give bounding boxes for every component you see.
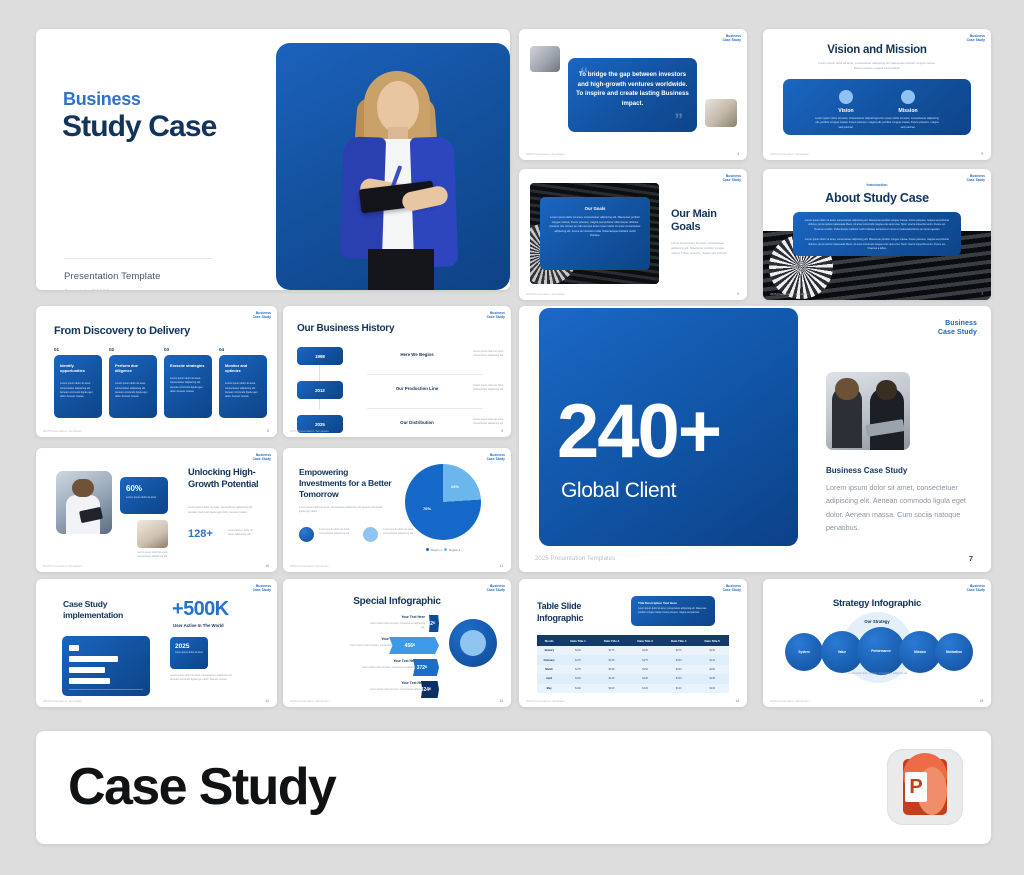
stat-card: 240+ Global Client: [539, 308, 798, 546]
slide-vision-mission[interactable]: Business Case Study Vision and Mission L…: [763, 29, 991, 160]
quote-photo-top: [530, 46, 560, 72]
strategy-title: Strategy Infographic: [763, 598, 991, 609]
table-note-card: Title Description Text Here Lorem ipsum …: [631, 596, 715, 626]
legend-label-region-2: Region 2: [449, 548, 460, 552]
slide-footer: 2025 Presentation Templates: [526, 699, 565, 703]
stat-body: Lorem ipsum dolor sit amet, consectetuer…: [826, 481, 976, 534]
slide-global-client-stat[interactable]: Business Case Study 240+ Global Client B…: [519, 306, 991, 572]
vision-subtitle: Lorem ipsum dolor sit amet, consectetuer…: [815, 61, 939, 70]
badge-year: 2025: [175, 643, 203, 650]
strategy-description: Lorem ipsum dolor sit amet, consectetuer…: [847, 672, 909, 676]
table-cell: May: [537, 684, 561, 693]
vision-icon: [839, 90, 853, 104]
feature-text-1: Lorem ipsum dolor sit amet, consectetuer…: [319, 528, 357, 537]
unlocking-title: Unlocking High-Growth Potential: [188, 467, 277, 490]
goals-description: Lorem ipsum dolor sit amet, consectetuer…: [671, 241, 733, 256]
slide-footer: 2025 Presentation Templates: [535, 556, 615, 562]
stat-heading: Business Case Study: [826, 466, 907, 475]
feature-icon-2: [363, 527, 378, 542]
slide-footer: 2025 Presentation Templates: [290, 429, 329, 433]
pie-legend: Region 1 Region 2: [405, 548, 481, 552]
table-cell: $198: [595, 665, 629, 674]
table-row: March $175 $198 $150 $150 $150: [537, 665, 729, 674]
goals-card-body: Lorem ipsum dolor sit amet, consectetuer…: [540, 216, 650, 239]
page-number: 8: [267, 429, 269, 433]
goals-card-heading: Our Goals: [540, 206, 650, 211]
badge-value: 60%: [126, 484, 162, 493]
history-label: Here We Begins: [367, 352, 467, 357]
note-heading: Title Description Text Here: [638, 601, 708, 605]
table-header-cell: Data Title 1: [561, 635, 595, 646]
table-cell: $170: [561, 655, 595, 664]
step-card: Execute strategies Lorem ipsum dolor sit…: [164, 355, 212, 418]
cover-title: Study Case: [62, 110, 216, 144]
vision-mission-card: Vision Lorem ipsum dolor sit amet, conse…: [783, 79, 971, 135]
data-table: Month Data Title 1 Data Title 2 Data Tit…: [537, 635, 729, 693]
powerpoint-icon[interactable]: P: [887, 749, 963, 825]
slide-business-history[interactable]: Business Case Study Our Business History…: [283, 306, 511, 437]
special-value: 132ᴷ: [429, 615, 439, 632]
page-number: 12: [265, 699, 269, 703]
page-number: 6: [737, 292, 739, 296]
slide-discovery-to-delivery[interactable]: Business Case Study From Discovery to De…: [36, 306, 277, 437]
table-header-cell: Month: [537, 635, 561, 646]
mission-column: Mission Lorem ipsum dolor sit amet, cons…: [869, 90, 947, 130]
percentage-badge: 60% Lorem ipsum dolor sit amet: [120, 477, 168, 514]
table-cell: $130: [628, 684, 662, 693]
step-card: Monitor and optimize Lorem ipsum dolor s…: [219, 355, 267, 418]
quote-card: “ ” To bridge the gap between investors …: [568, 58, 697, 132]
history-row: 2025 Our Distribution Lorem ipsum dolor …: [297, 412, 497, 437]
step-number: 03: [164, 347, 169, 352]
brand-logo: Business Case Study: [723, 174, 741, 182]
table-cell: $190: [595, 684, 629, 693]
table-cell: $120: [662, 684, 696, 693]
step-body: Lorem ipsum dolor sit amet, consectetuer…: [225, 382, 261, 400]
strategy-center-label: Our Strategy: [763, 619, 991, 624]
slide-footer: 2025 Presentation Templates: [770, 292, 809, 296]
slide-footer: 2025 Presentation Templates: [290, 564, 329, 568]
implementation-bar-chart: [62, 636, 150, 696]
table-cell: $138: [695, 674, 729, 683]
about-text-card: Lorem ipsum dolor sit amet, consectetuer…: [793, 212, 961, 256]
table-row: January $240 $175 $130 $275 $140: [537, 646, 729, 655]
table-cell: January: [537, 646, 561, 655]
goals-title: Our Main Goals: [671, 208, 747, 234]
mission-icon: [901, 90, 915, 104]
meeting-photo: [826, 372, 910, 450]
special-value: 324ᴷ: [421, 681, 439, 698]
history-desc: Lorem ipsum dolor sit amet, consectetuer…: [473, 384, 511, 393]
table-slide-title: Table Slide Infographic: [537, 601, 609, 624]
unlocking-stat-caption: Lorem ipsum dolor sit amet, adipiscing e…: [228, 529, 258, 538]
special-value: 372ᴷ: [413, 659, 439, 676]
page-number: 7: [969, 554, 973, 563]
about-paragraph-2: Lorem ipsum dolor sit amet, consectetuer…: [804, 238, 950, 251]
step-card: Identify opportunities Lorem ipsum dolor…: [54, 355, 102, 418]
brand-logo: Business Case Study: [723, 34, 741, 42]
brand-logo: Business Case Study: [967, 34, 985, 42]
slide-strategy-infographic[interactable]: Business Case Study Strategy Infographic…: [763, 579, 991, 707]
table-cell: February: [537, 655, 561, 664]
brand-logo: Business Case Study: [253, 584, 271, 592]
slide-cover[interactable]: Business Study Case Presentation Templat…: [36, 29, 510, 290]
step-number: 04: [219, 347, 224, 352]
page-number: 10: [265, 564, 269, 568]
step-body: Lorem ipsum dolor sit amet, consectetuer…: [170, 377, 206, 395]
implementation-big-number: +500K: [172, 598, 229, 621]
slide-deck-preview: Business Study Case Presentation Templat…: [0, 0, 1024, 875]
slide-table-infographic[interactable]: Business Case Study Table Slide Infograp…: [519, 579, 747, 707]
brand-logo: Business Case Study: [487, 453, 505, 461]
table-cell: $144: [695, 655, 729, 664]
slide-footer: 2025 Presentation Templates: [526, 292, 565, 296]
slide-footer: 2025 Presentation Templates: [770, 152, 809, 156]
table-row: February $170 $135 $175 $160 $144: [537, 655, 729, 664]
table-header-cell: Data Title 4: [662, 635, 696, 646]
table-cell: $175: [628, 655, 662, 664]
step-card: Perform due diligence Lorem ipsum dolor …: [109, 355, 157, 418]
pie-slide-title: Empowering Investments for a Better Tomo…: [299, 467, 394, 501]
page-number: 5: [981, 152, 983, 156]
pie-slide-description: Lorem ipsum dolor sit amet, consectetuer…: [299, 506, 383, 515]
history-year: 1998: [297, 347, 343, 365]
special-body: Lorem ipsum dolor sit amet, consectetuer…: [369, 622, 425, 630]
step-body: Lorem ipsum dolor sit amet, consectetuer…: [60, 382, 96, 400]
slide-quote[interactable]: Business Case Study “ ” To bridge the ga…: [519, 29, 747, 160]
table-cell: $140: [695, 684, 729, 693]
pie-slice-label-24: 24%: [451, 484, 459, 489]
vision-title: Vision and Mission: [763, 44, 991, 56]
table-cell: $150: [662, 665, 696, 674]
special-body: Lorem ipsum dolor sit amet, consectetuer…: [369, 688, 425, 696]
implementation-title: Case Study implementation: [63, 599, 149, 621]
quote-photo-bottom: [705, 99, 737, 127]
special-value: 456ᴷ: [389, 637, 439, 654]
table-cell: April: [537, 674, 561, 683]
table-cell: $130: [628, 646, 662, 655]
legend-label-region-1: Region 1: [431, 548, 442, 552]
implementation-big-caption: User Active In The World: [173, 623, 224, 628]
history-label: Our Production Line: [367, 386, 467, 391]
history-row: 2012 Our Production Line Lorem ipsum dol…: [297, 378, 497, 412]
mission-heading: Mission: [869, 108, 947, 114]
special-row: Your Text Here Lorem ipsum dolor sit ame…: [321, 681, 439, 703]
page-number: 4: [737, 152, 739, 156]
cover-divider: [64, 258, 212, 259]
history-desc: Lorem ipsum dolor sit amet, consectetuer…: [473, 418, 511, 427]
special-row: Your Text Here Lorem ipsum dolor sit ame…: [313, 659, 439, 681]
powerpoint-icon-letter: P: [905, 772, 927, 802]
table-header-cell: Data Title 3: [628, 635, 662, 646]
brand-logo: Business Case Study: [938, 320, 977, 338]
mission-body: Lorem ipsum dolor sit amet, consectetuer…: [869, 117, 947, 130]
table-cell: $160: [662, 655, 696, 664]
cover-subtitle: Presentation Template: [64, 271, 160, 282]
about-title: About Study Case: [763, 191, 991, 205]
brand-logo: Business Case Study: [487, 584, 505, 592]
strategy-node[interactable]: System: [785, 633, 823, 671]
page-number: 13: [499, 699, 503, 703]
slide-about-study-case[interactable]: Business Case Study Introduction About S…: [763, 169, 991, 300]
step-heading: Identify opportunities: [60, 363, 96, 373]
special-row: Your Text Here Lorem ipsum dolor sit ame…: [301, 637, 439, 659]
feature-text-2: Lorem ipsum dolor sit amet, consectetuer…: [383, 528, 421, 537]
banner-title: Case Study: [68, 757, 335, 817]
discovery-title: From Discovery to Delivery: [54, 325, 190, 337]
about-paragraph-1: Lorem ipsum dolor sit amet, consectetuer…: [804, 219, 950, 232]
slide-unlocking-potential[interactable]: Business Case Study 60% Lorem ipsum dolo…: [36, 448, 277, 572]
slide-empowering-investments[interactable]: Business Case Study Empowering Investmen…: [283, 448, 511, 572]
brand-logo: Business Case Study: [253, 311, 271, 319]
page-number: 11: [500, 564, 503, 568]
table-cell: $240: [561, 646, 595, 655]
brand-logo: Business Case Study: [253, 453, 271, 461]
step-number: 01: [54, 347, 59, 352]
slide-footer: 2025 Presentation Templates: [526, 152, 565, 156]
page-number: 9: [501, 429, 503, 433]
special-body: Lorem ipsum dolor sit amet, consectetuer…: [361, 666, 417, 674]
table-header-row: Month Data Title 1 Data Title 2 Data Tit…: [537, 635, 729, 646]
table-cell: $175: [561, 665, 595, 674]
badge-caption: Lorem ipsum dolor sit amet: [175, 652, 203, 656]
quote-text: To bridge the gap between investors and …: [576, 70, 689, 108]
goals-card: Our Goals Lorem ipsum dolor sit amet, co…: [540, 197, 650, 270]
unlocking-photo-caption: Lorem ipsum dolor sit amet, consectetuer…: [137, 551, 175, 560]
table-cell: $140: [561, 684, 595, 693]
feature-icon-1: [299, 527, 314, 542]
slide-footer: 2025 Presentation Templates: [290, 699, 329, 703]
page-number: 7: [981, 292, 983, 296]
unlocking-photo-secondary: [137, 520, 168, 548]
history-row: 1998 Here We Begins Lorem ipsum dolor si…: [297, 344, 497, 378]
slide-footer: 2025 Presentation Templates: [770, 699, 809, 703]
slide-footer: 2025 Presentation Templates: [43, 564, 82, 568]
pie-slice-label-76: 76%: [423, 506, 431, 511]
about-eyebrow: Introduction: [763, 183, 991, 187]
brand-logo: Business Case Study: [723, 584, 741, 592]
step-body: Lorem ipsum dolor sit amet, consectetuer…: [115, 382, 151, 400]
slide-footer: 2025 Presentation Templates: [43, 699, 82, 703]
slide-special-infographic[interactable]: Business Case Study Special Infographic …: [283, 579, 511, 707]
table-cell: $194: [561, 674, 595, 683]
implementation-year-badge: 2025 Lorem ipsum dolor sit amet: [170, 637, 208, 669]
table-cell: $150: [662, 674, 696, 683]
quote-close-mark: ”: [675, 111, 684, 128]
document-search-icon: [460, 630, 486, 656]
step-number: 02: [109, 347, 114, 352]
brand-logo: Business Case Study: [487, 311, 505, 319]
history-title: Our Business History: [297, 323, 394, 334]
page-number: 15: [979, 699, 983, 703]
table-cell: $150: [695, 665, 729, 674]
unlocking-photo-main: [56, 471, 112, 534]
bottom-banner: Case Study P: [36, 731, 991, 844]
cover-eyebrow: Business: [63, 89, 141, 110]
history-desc: Lorem ipsum dolor sit amet, consectetuer…: [473, 350, 511, 359]
unlocking-stat: 128+: [188, 528, 213, 540]
unlocking-description: Lorem ipsum dolor sit amet, consectetuer…: [188, 506, 254, 515]
table-header-cell: Data Title 5: [695, 635, 729, 646]
badge-caption: Lorem ipsum dolor sit amet: [126, 496, 162, 500]
brand-logo: Business Case Study: [967, 174, 985, 182]
table-cell: $140: [695, 646, 729, 655]
pie-chart: 24% 76%: [405, 464, 481, 540]
slide-our-main-goals[interactable]: Business Case Study Our Goals Lorem ipsu…: [519, 169, 747, 300]
table-row: May $140 $190 $130 $120 $140: [537, 684, 729, 693]
special-row: Your Text Here Lorem ipsum dolor sit ame…: [321, 615, 439, 637]
step-heading: Monitor and optimize: [225, 363, 261, 373]
brand-logo: Business Case Study: [967, 584, 985, 592]
special-hub: [449, 619, 497, 667]
special-heading: Your Text Here: [401, 615, 425, 619]
implementation-description: Lorem ipsum dolor sit amet, consectetuer…: [170, 674, 236, 683]
table-cell: $175: [595, 646, 629, 655]
stat-label: Global Client: [561, 479, 676, 503]
strategy-node[interactable]: Motivation: [935, 633, 973, 671]
cover-photo: [276, 43, 510, 290]
table-header-cell: Data Title 2: [595, 635, 629, 646]
strategy-node[interactable]: Performance: [857, 627, 905, 675]
step-heading: Perform due diligence: [115, 363, 151, 373]
special-title: Special Infographic: [283, 596, 511, 607]
history-label: Our Distribution: [367, 420, 467, 425]
table-cell: $150: [628, 665, 662, 674]
step-heading: Execute strategies: [170, 363, 206, 368]
table-cell: $130: [628, 674, 662, 683]
table-row: April $194 $146 $130 $150 $138: [537, 674, 729, 683]
stat-number: 240+: [557, 394, 720, 470]
table-cell: $135: [595, 655, 629, 664]
history-year: 2012: [297, 381, 343, 399]
slide-footer: 2025 Presentation Templates: [43, 429, 82, 433]
table-cell: March: [537, 665, 561, 674]
page-number: 14: [735, 699, 739, 703]
note-body: Lorem ipsum dolor sit amet, consectetuer…: [638, 608, 708, 616]
table-cell: $146: [595, 674, 629, 683]
slide-case-study-implementation[interactable]: Business Case Study Case Study implement…: [36, 579, 277, 707]
table-cell: $275: [662, 646, 696, 655]
